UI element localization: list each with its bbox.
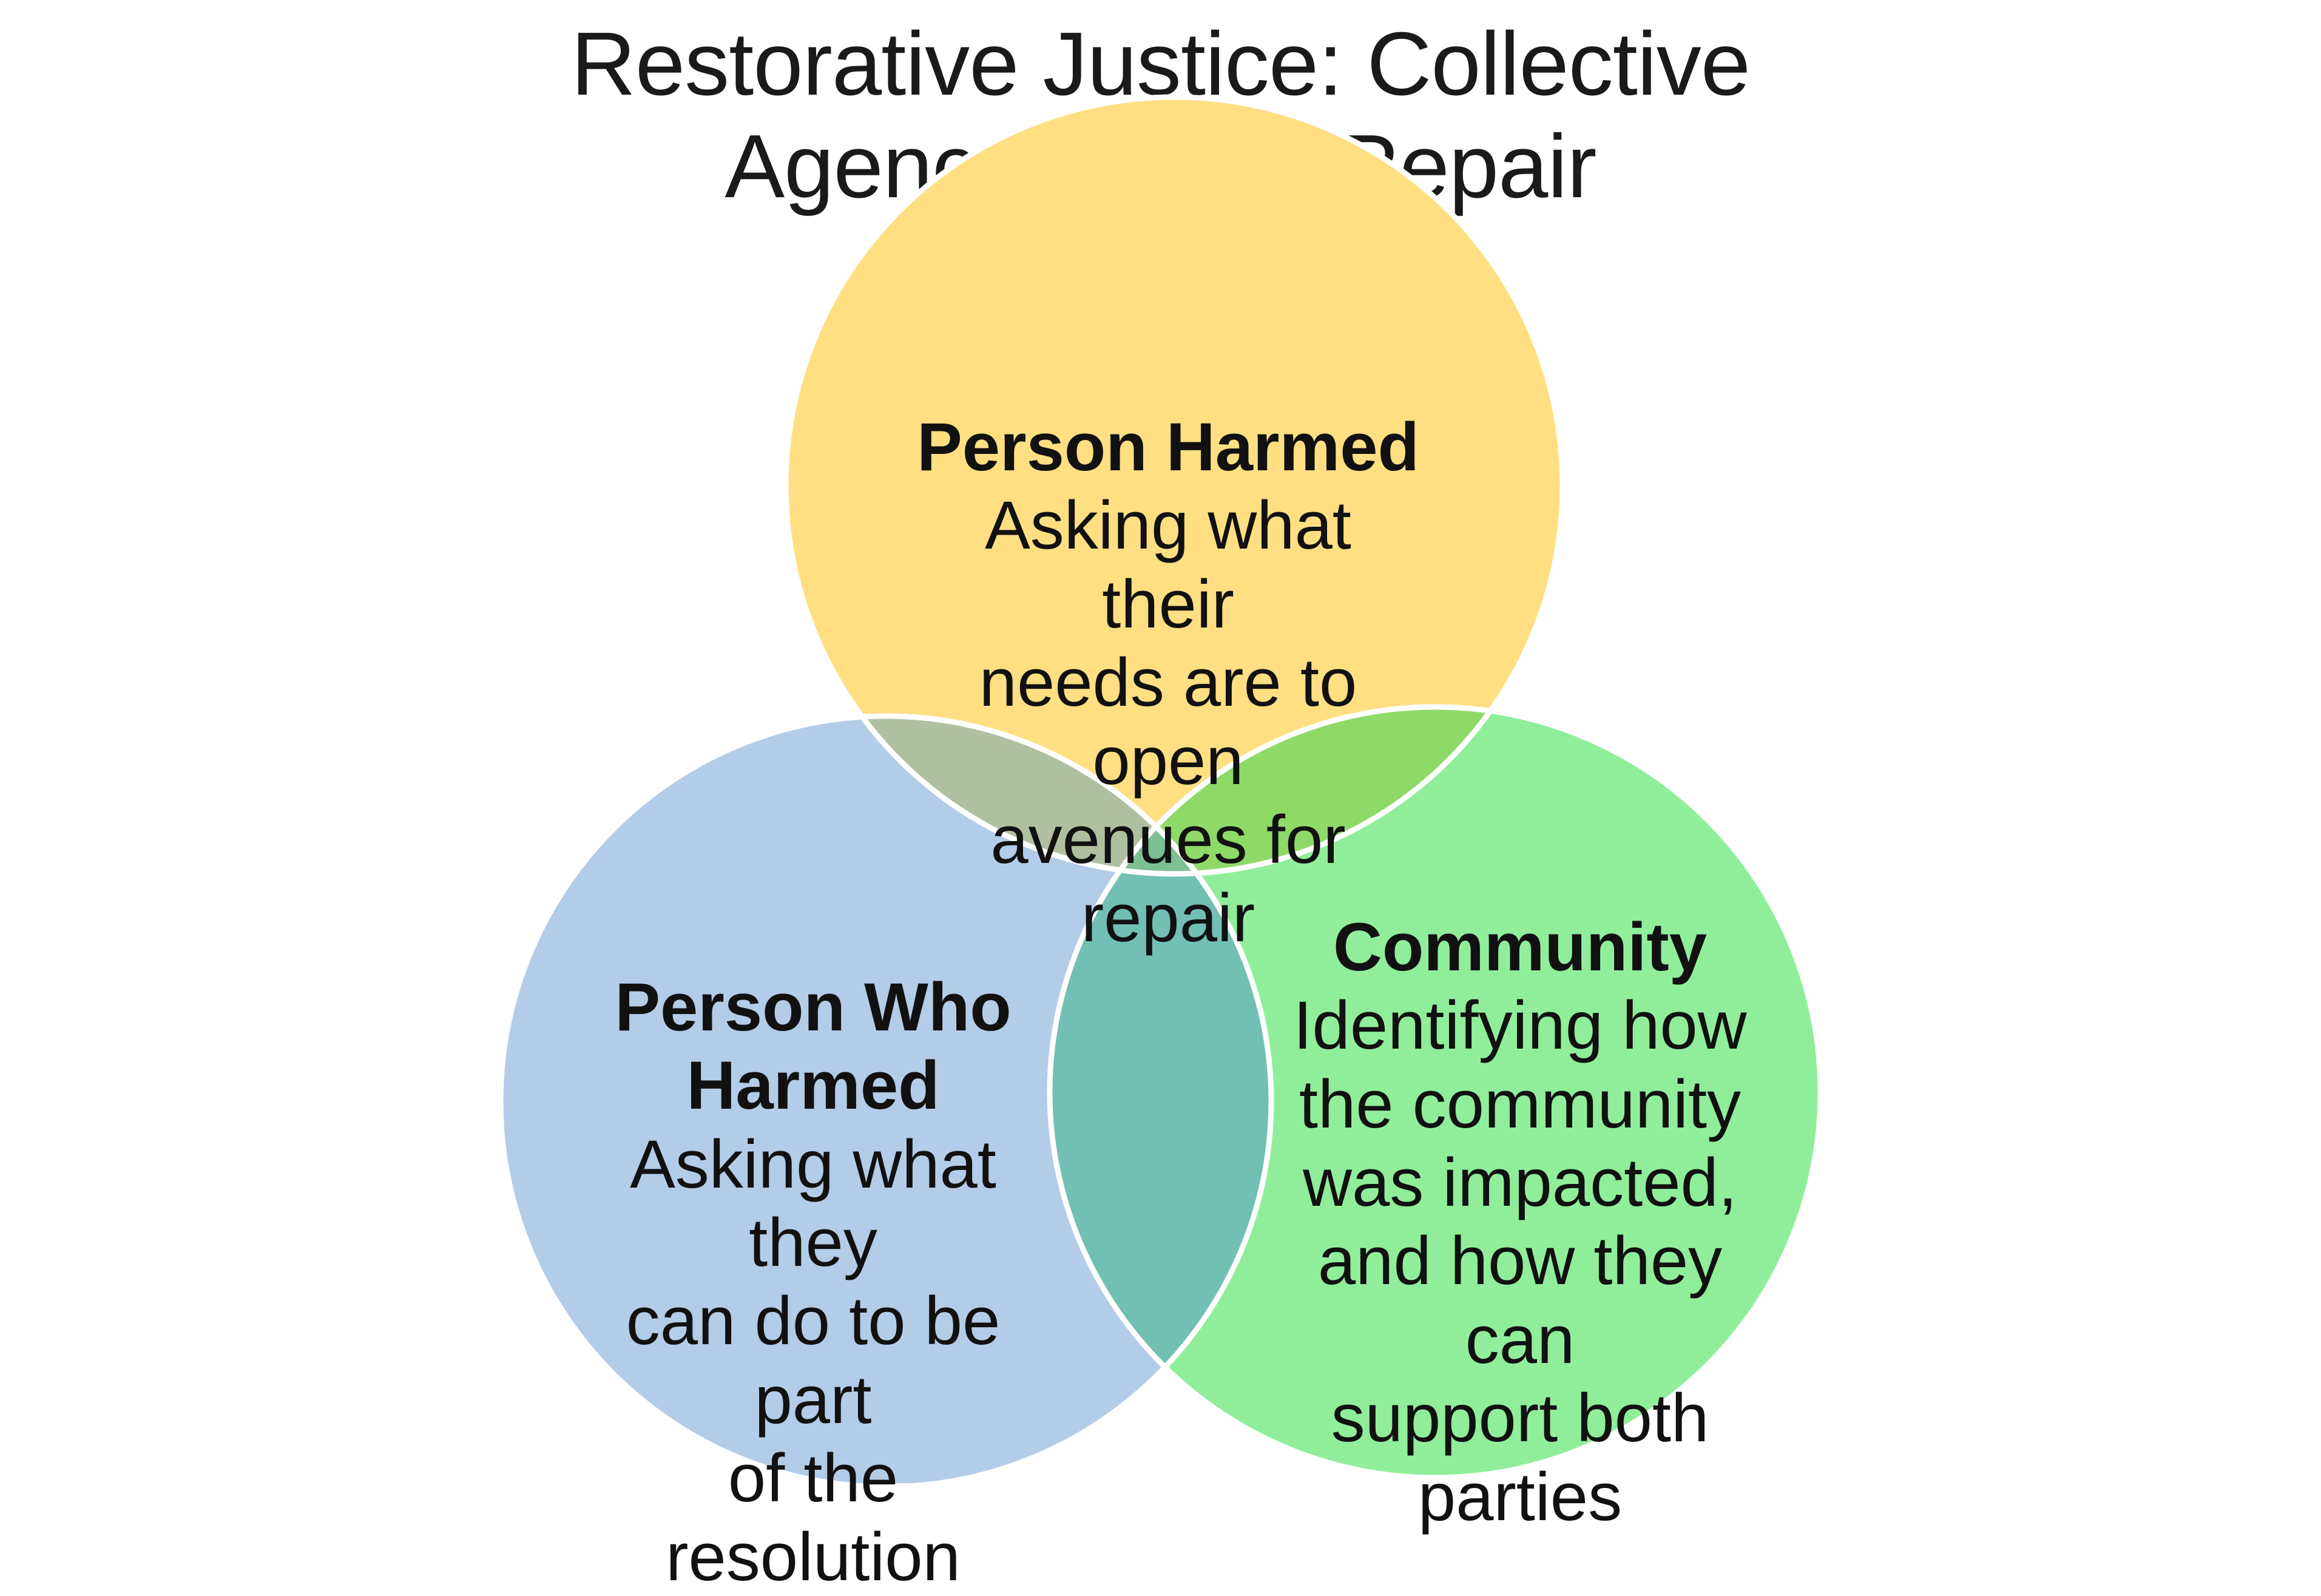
label-community-description: Identifying how the community was impact… [1277, 986, 1763, 1536]
venn-diagram-canvas: Restorative Justice: Collective Agency t… [0, 0, 2321, 1483]
label-person-who-harmed-heading: Person Who Harmed [573, 968, 1053, 1125]
label-person-harmed-heading: Person Harmed [916, 408, 1420, 486]
label-person-who-harmed: Person Who Harmed Asking what they can d… [573, 968, 1053, 1596]
label-community-heading: Community [1277, 908, 1763, 986]
label-person-who-harmed-description: Asking what they can do to be part of th… [573, 1125, 1053, 1596]
label-community: Community Identifying how the community … [1277, 908, 1763, 1536]
label-person-harmed: Person Harmed Asking what their needs ar… [916, 408, 1420, 958]
label-person-harmed-description: Asking what their needs are to open aven… [916, 486, 1420, 957]
